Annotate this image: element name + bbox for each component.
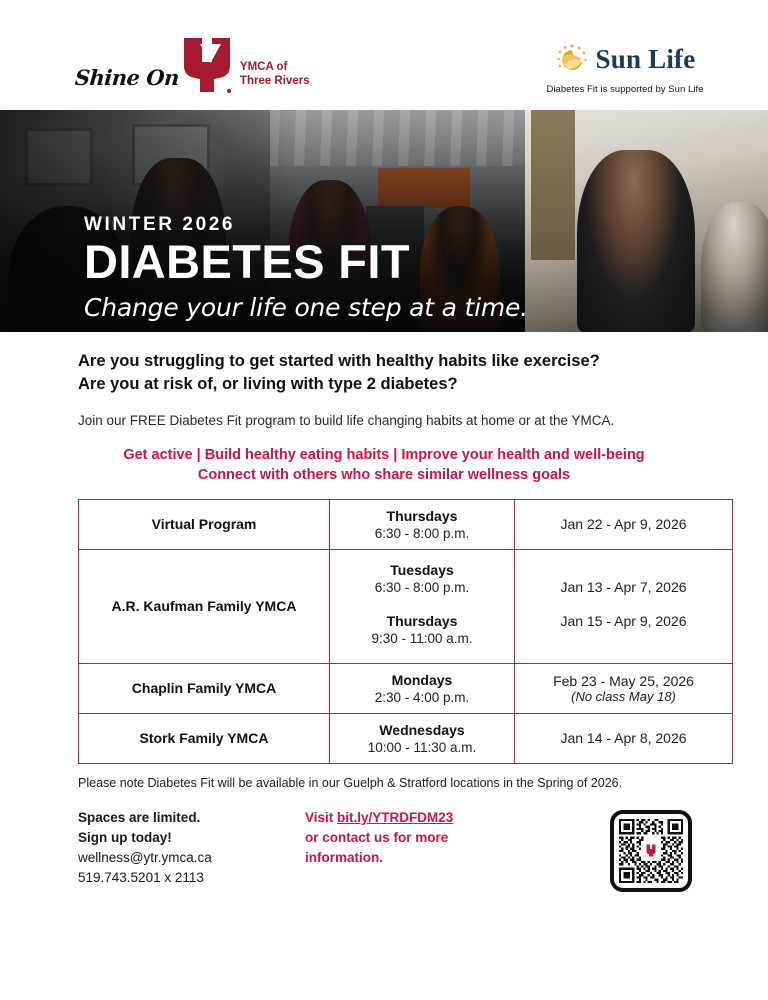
day-name: Thursdays <box>336 613 508 629</box>
day-time: 6:30 - 8:00 p.m. <box>336 580 508 595</box>
date-range: Jan 14 - Apr 8, 2026 <box>521 730 726 746</box>
date-range: Feb 23 - May 25, 2026 <box>521 673 726 689</box>
visit-rest-line2: information. <box>305 848 535 868</box>
header: Shine On YMCA of Three Rivers <box>0 0 768 110</box>
hero-banner: WINTER 2026 DIABETES FIT Change your lif… <box>0 110 768 332</box>
spaces-limited-line1: Spaces are limited. <box>78 808 212 828</box>
sponsor-name: Sun Life <box>596 44 696 75</box>
day-slot: Thursdays 9:30 - 11:00 a.m. <box>336 604 508 655</box>
day-slot: Tuesdays 6:30 - 8:00 p.m. <box>336 558 508 604</box>
main-content: Are you struggling to get started with h… <box>0 350 768 918</box>
row-location: A.R. Kaufman Family YMCA <box>79 549 330 663</box>
hero-photo-3 <box>525 110 768 332</box>
hero-season: WINTER 2026 <box>84 214 528 236</box>
ymca-org-line1: YMCA of <box>240 60 310 74</box>
sun-icon <box>555 42 589 76</box>
day-name: Thursdays <box>336 508 508 524</box>
ymca-y-icon <box>181 36 233 94</box>
row-day: Tuesdays 6:30 - 8:00 p.m. Thursdays 9:30… <box>330 549 515 663</box>
date-slot: Jan 15 - Apr 9, 2026 <box>521 604 726 638</box>
intro-question-line1: Are you struggling to get started with h… <box>78 350 708 373</box>
table-row: Stork Family YMCA Wednesdays 10:00 - 11:… <box>79 713 733 763</box>
visit-prefix: Visit <box>305 810 337 825</box>
row-dates: Jan 22 - Apr 9, 2026 <box>515 499 733 549</box>
benefits-line1: Get active | Build healthy eating habits… <box>123 447 644 463</box>
visit-link[interactable]: bit.ly/YTRDFDM23 <box>337 810 453 825</box>
day-name: Mondays <box>336 672 508 688</box>
day-name: Wednesdays <box>336 722 508 738</box>
intro-questions: Are you struggling to get started with h… <box>78 350 708 397</box>
qr-code[interactable] <box>610 810 692 892</box>
shine-on-tagline: Shine On <box>74 65 180 90</box>
intro-join-line: Join our FREE Diabetes Fit program to bu… <box>78 413 708 428</box>
date-slot: Jan 13 - Apr 7, 2026 <box>521 575 726 604</box>
ymca-org-name: YMCA of Three Rivers <box>240 60 310 88</box>
row-day: Mondays 2:30 - 4:00 p.m. <box>330 663 515 713</box>
row-day: Thursdays 6:30 - 8:00 p.m. <box>330 499 515 549</box>
visit-info: Visit bit.ly/YTRDFDM23 or contact us for… <box>305 808 535 869</box>
table-row: A.R. Kaufman Family YMCA Tuesdays 6:30 -… <box>79 549 733 663</box>
row-dates: Feb 23 - May 25, 2026 (No class May 18) <box>515 663 733 713</box>
schedule-table: Virtual Program Thursdays 6:30 - 8:00 p.… <box>78 499 733 764</box>
sponsor-logo: Sun Life Diabetes Fit is supported by Su… <box>525 42 725 95</box>
availability-note: Please note Diabetes Fit will be availab… <box>78 776 708 790</box>
day-time: 2:30 - 4:00 p.m. <box>336 690 508 705</box>
date-note: (No class May 18) <box>521 689 726 704</box>
benefits-line2: Connect with others who share similar we… <box>0 465 768 485</box>
date-range: Jan 15 - Apr 9, 2026 <box>521 613 726 629</box>
row-dates: Jan 13 - Apr 7, 2026 Jan 15 - Apr 9, 202… <box>515 549 733 663</box>
row-day: Wednesdays 10:00 - 11:30 a.m. <box>330 713 515 763</box>
intro-question-line2: Are you at risk of, or living with type … <box>78 373 708 396</box>
contact-email[interactable]: wellness@ytr.ymca.ca <box>78 848 212 868</box>
date-range: Jan 22 - Apr 9, 2026 <box>521 516 726 532</box>
table-row: Chaplin Family YMCA Mondays 2:30 - 4:00 … <box>79 663 733 713</box>
flyer-page: Shine On YMCA of Three Rivers <box>0 0 768 1000</box>
hero-text-block: WINTER 2026 DIABETES FIT Change your lif… <box>84 214 528 322</box>
benefits-list: Get active | Build healthy eating habits… <box>0 445 768 485</box>
sponsor-caption: Diabetes Fit is supported by Sun Life <box>525 84 725 95</box>
day-time: 9:30 - 11:00 a.m. <box>336 631 508 646</box>
row-location: Virtual Program <box>79 499 330 549</box>
row-location: Chaplin Family YMCA <box>79 663 330 713</box>
hero-title: DIABETES FIT <box>84 238 528 287</box>
day-time: 6:30 - 8:00 p.m. <box>336 526 508 541</box>
row-dates: Jan 14 - Apr 8, 2026 <box>515 713 733 763</box>
spaces-limited-line2: Sign up today! <box>78 828 212 848</box>
signup-info: Spaces are limited. Sign up today! welln… <box>78 808 212 888</box>
date-range: Jan 13 - Apr 7, 2026 <box>521 579 726 595</box>
footer: Spaces are limited. Sign up today! welln… <box>0 808 768 918</box>
row-location: Stork Family YMCA <box>79 713 330 763</box>
day-name: Tuesdays <box>336 562 508 578</box>
contact-phone[interactable]: 519.743.5201 x 2113 <box>78 868 212 888</box>
visit-rest-line1: or contact us for more <box>305 828 535 848</box>
ymca-org-line2: Three Rivers <box>240 74 310 88</box>
ymca-logo: Shine On YMCA of Three Rivers <box>75 34 310 94</box>
hero-tagline: Change your life one step at a time. <box>84 293 528 322</box>
table-row: Virtual Program Thursdays 6:30 - 8:00 p.… <box>79 499 733 549</box>
day-time: 10:00 - 11:30 a.m. <box>336 740 508 755</box>
